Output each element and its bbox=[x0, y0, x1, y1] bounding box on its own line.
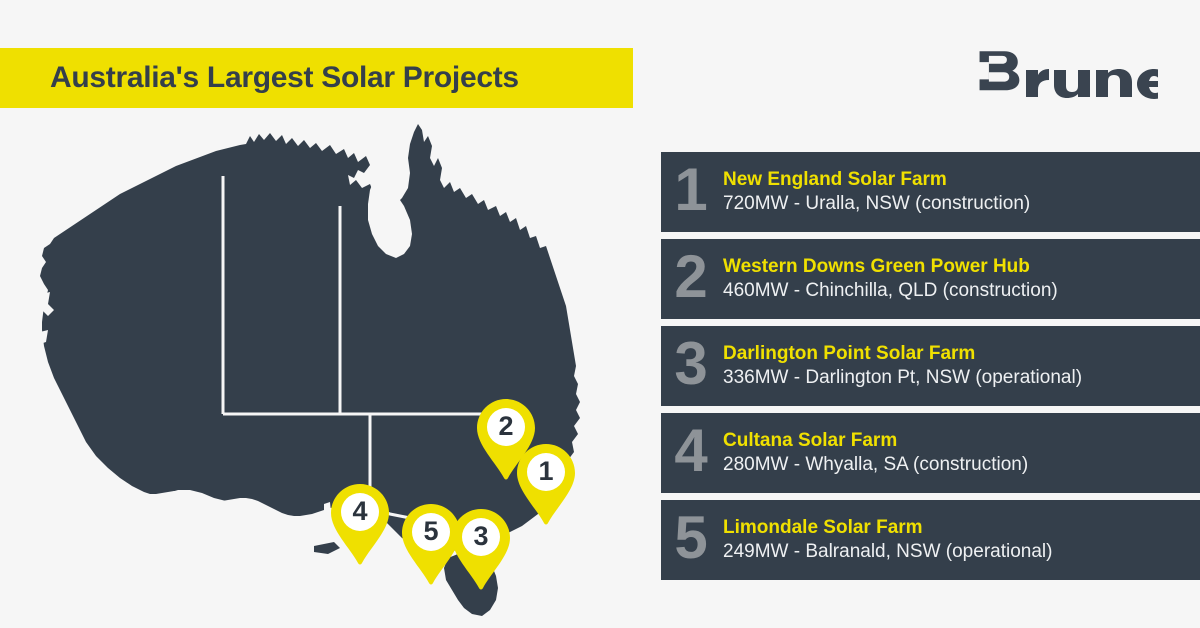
list-item[interactable]: 1 New England Solar Farm 720MW - Uralla,… bbox=[661, 152, 1200, 232]
map-pin-5[interactable]: 5 bbox=[399, 502, 463, 586]
map-pin-icon bbox=[474, 397, 538, 481]
list-item[interactable]: 2 Western Downs Green Power Hub 460MW - … bbox=[661, 239, 1200, 319]
project-detail: 249MW - Balranald, NSW (operational) bbox=[723, 540, 1200, 565]
title-banner: Australia's Largest Solar Projects bbox=[0, 48, 633, 108]
map-pin-icon bbox=[328, 482, 392, 566]
map-pin-4[interactable]: 4 bbox=[328, 482, 392, 566]
list-item[interactable]: 3 Darlington Point Solar Farm 336MW - Da… bbox=[661, 326, 1200, 406]
rank-badge: 2 bbox=[661, 247, 721, 311]
project-name: Limondale Solar Farm bbox=[723, 516, 1200, 540]
project-name: Cultana Solar Farm bbox=[723, 429, 1200, 453]
rank-badge: 4 bbox=[661, 421, 721, 485]
australia-map-icon bbox=[18, 118, 628, 618]
project-detail: 280MW - Whyalla, SA (construction) bbox=[723, 453, 1200, 478]
list-item-body: Cultana Solar Farm 280MW - Whyalla, SA (… bbox=[721, 429, 1200, 478]
list-item-body: Darlington Point Solar Farm 336MW - Darl… bbox=[721, 342, 1200, 391]
infographic-page: Australia's Largest Solar Projects bbox=[0, 0, 1200, 628]
map-pin-icon bbox=[399, 502, 463, 586]
project-rank-list: 1 New England Solar Farm 720MW - Uralla,… bbox=[661, 152, 1200, 587]
rank-badge: 5 bbox=[661, 508, 721, 572]
list-item[interactable]: 5 Limondale Solar Farm 249MW - Balranald… bbox=[661, 500, 1200, 580]
rank-badge: 3 bbox=[661, 334, 721, 398]
map-pin-2[interactable]: 2 bbox=[474, 397, 538, 481]
list-item[interactable]: 4 Cultana Solar Farm 280MW - Whyalla, SA… bbox=[661, 413, 1200, 493]
project-detail: 336MW - Darlington Pt, NSW (operational) bbox=[723, 366, 1200, 391]
list-item-body: Limondale Solar Farm 249MW - Balranald, … bbox=[721, 516, 1200, 565]
project-name: Darlington Point Solar Farm bbox=[723, 342, 1200, 366]
rank-badge: 1 bbox=[661, 160, 721, 224]
project-name: New England Solar Farm bbox=[723, 168, 1200, 192]
brunel-logo-icon bbox=[978, 50, 1158, 104]
list-item-body: Western Downs Green Power Hub 460MW - Ch… bbox=[721, 255, 1200, 304]
project-detail: 460MW - Chinchilla, QLD (construction) bbox=[723, 279, 1200, 304]
project-detail: 720MW - Uralla, NSW (construction) bbox=[723, 192, 1200, 217]
project-name: Western Downs Green Power Hub bbox=[723, 255, 1200, 279]
list-item-body: New England Solar Farm 720MW - Uralla, N… bbox=[721, 168, 1200, 217]
page-title: Australia's Largest Solar Projects bbox=[50, 63, 519, 93]
australia-map-region: 1 2 3 4 bbox=[18, 118, 628, 618]
